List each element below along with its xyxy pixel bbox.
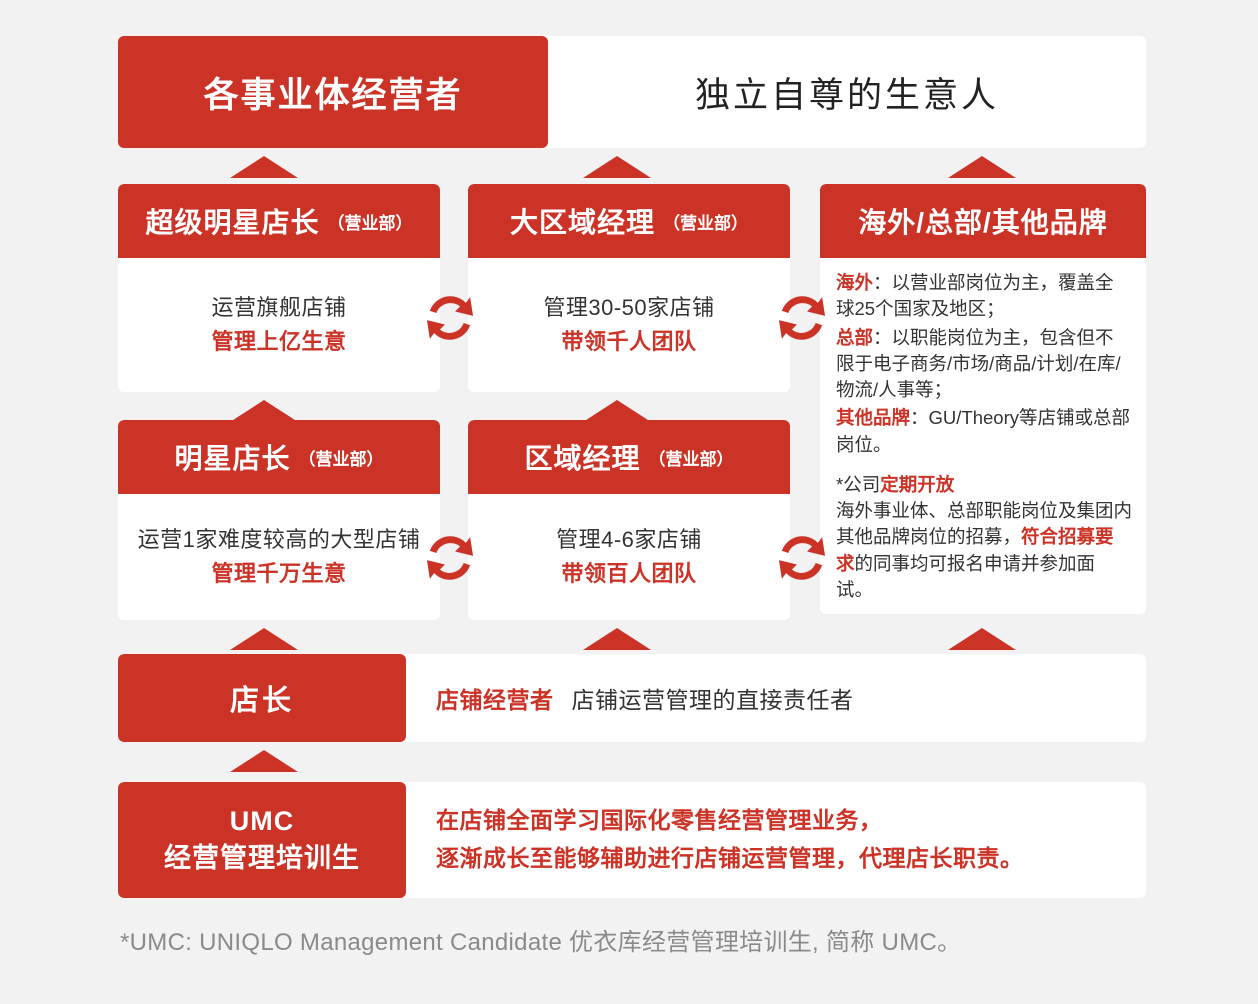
top-banner: 各事业体经营者 独立自尊的生意人 — [118, 36, 1146, 148]
row-red-label: UMC 经营管理培训生 — [118, 782, 406, 898]
row-description: 在店铺全面学习国际化零售经营管理业务， 逐渐成长至能够辅助进行店铺运营管理，代理… — [406, 782, 1146, 898]
card-header: 大区域经理 （营业部） — [468, 184, 790, 258]
card-header: 区域经理 （营业部） — [468, 420, 790, 494]
spacer — [836, 460, 1132, 472]
card-body: 管理4-6家店铺 带领百人团队 — [468, 494, 790, 620]
exchange-arrows-icon — [766, 282, 838, 354]
card-line-1: 管理4-6家店铺 — [556, 523, 702, 557]
exchange-arrows-icon — [766, 522, 838, 594]
card-department: （营业部） — [649, 445, 734, 470]
card-header: 海外/总部/其他品牌 — [820, 184, 1146, 258]
detail-overseas: 海外：以营业部岗位为主，覆盖全球25个国家及地区； — [836, 270, 1132, 323]
card-overseas-hq-other-brands: 海外/总部/其他品牌 海外：以营业部岗位为主，覆盖全球25个国家及地区； 总部：… — [820, 184, 1146, 614]
detail-other-brands: 其他品牌：GU/Theory等店铺或总部岗位。 — [836, 405, 1132, 458]
card-line-2: 管理千万生意 — [211, 557, 346, 591]
card-header: 超级明星店长 （营业部） — [118, 184, 440, 258]
card-department: （营业部） — [328, 209, 413, 234]
card-department: （营业部） — [299, 445, 384, 470]
triangle-up-icon — [583, 628, 651, 650]
card-title: 区域经理 — [524, 437, 640, 477]
umc-description: 在店铺全面学习国际化零售经营管理业务， 逐渐成长至能够辅助进行店铺运营管理，代理… — [436, 802, 1024, 878]
recruitment-note: *公司定期开放 海外事业体、总部职能岗位及集团内其他品牌岗位的招募，符合招募要求… — [836, 472, 1132, 603]
card-area-general-manager: 大区域经理 （营业部） 管理30-50家店铺 带领千人团队 — [468, 184, 790, 392]
detail-headquarters: 总部：以职能岗位为主，包含但不限于电子商务/市场/商品/计划/在库/物流/人事等… — [836, 325, 1132, 404]
row-description: 店铺经营者 店铺运营管理的直接责任者 — [406, 654, 1146, 742]
detail-label: 海外 — [836, 272, 873, 293]
note-body-2: 的同事均可报名申请并参加面试。 — [836, 553, 1095, 600]
exchange-arrows-icon — [414, 282, 486, 354]
triangle-up-icon — [948, 156, 1016, 178]
card-super-star-store-manager: 超级明星店长 （营业部） 运营旗舰店铺 管理上亿生意 — [118, 184, 440, 392]
row-store-manager: 店长 店铺经营者 店铺运营管理的直接责任者 — [118, 654, 1146, 742]
card-department: （营业部） — [663, 209, 748, 234]
card-body: 海外：以营业部岗位为主，覆盖全球25个国家及地区； 总部：以职能岗位为主，包含但… — [820, 258, 1146, 611]
card-title: 大区域经理 — [510, 201, 655, 241]
card-title: 明星店长 — [174, 437, 290, 477]
detail-text: ：以职能岗位为主，包含但不限于电子商务/市场/商品/计划/在库/物流/人事等； — [836, 327, 1121, 401]
note-highlight-periodic: 定期开放 — [880, 474, 954, 495]
triangle-up-icon — [948, 628, 1016, 650]
card-body: 运营旗舰店铺 管理上亿生意 — [118, 258, 440, 392]
career-path-diagram: 各事业体经营者 独立自尊的生意人 超级明星店长 （营业部） 运营旗舰店铺 管理上… — [0, 0, 1258, 1004]
triangle-up-icon — [583, 400, 651, 422]
umc-label-line-1: UMC — [230, 803, 295, 840]
card-area-manager: 区域经理 （营业部） 管理4-6家店铺 带领百人团队 — [468, 420, 790, 620]
card-title: 海外/总部/其他品牌 — [858, 201, 1108, 241]
card-body: 管理30-50家店铺 带领千人团队 — [468, 258, 790, 392]
detail-text: ：以营业部岗位为主，覆盖全球25个国家及地区； — [836, 272, 1114, 319]
umc-text-line-2: 逐渐成长至能够辅助进行店铺运营管理，代理店长职责。 — [436, 840, 1024, 878]
triangle-up-icon — [583, 156, 651, 178]
note-prefix: *公司 — [836, 474, 880, 495]
card-line-2: 带领千人团队 — [561, 325, 696, 359]
card-body: 运营1家难度较高的大型店铺 管理千万生意 — [118, 494, 440, 620]
top-banner-white-label: 独立自尊的生意人 — [548, 36, 1146, 148]
triangle-up-icon — [230, 628, 298, 650]
role-description: 店铺运营管理的直接责任者 — [572, 681, 854, 715]
row-red-label: 店长 — [118, 654, 406, 742]
card-header: 明星店长 （营业部） — [118, 420, 440, 494]
card-line-2: 管理上亿生意 — [211, 325, 346, 359]
detail-label: 其他品牌 — [836, 407, 910, 428]
card-star-store-manager: 明星店长 （营业部） 运营1家难度较高的大型店铺 管理千万生意 — [118, 420, 440, 620]
triangle-up-icon — [230, 156, 298, 178]
umc-label-line-2: 经营管理培训生 — [164, 840, 360, 877]
role-tag: 店铺经营者 — [436, 681, 554, 715]
card-line-1: 运营旗舰店铺 — [211, 291, 346, 325]
umc-text-line-1: 在店铺全面学习国际化零售经营管理业务， — [436, 802, 1024, 840]
card-line-1: 管理30-50家店铺 — [543, 291, 714, 325]
footnote: *UMC: UNIQLO Management Candidate 优衣库经营管… — [120, 922, 1140, 957]
detail-label: 总部 — [836, 327, 873, 348]
card-title: 超级明星店长 — [145, 201, 319, 241]
card-line-2: 带领百人团队 — [561, 557, 696, 591]
triangle-up-icon — [230, 750, 298, 772]
card-line-1: 运营1家难度较高的大型店铺 — [138, 523, 421, 557]
exchange-arrows-icon — [414, 522, 486, 594]
row-umc: UMC 经营管理培训生 在店铺全面学习国际化零售经营管理业务， 逐渐成长至能够辅… — [118, 782, 1146, 898]
triangle-up-icon — [230, 400, 298, 422]
top-banner-red-label: 各事业体经营者 — [118, 36, 548, 148]
